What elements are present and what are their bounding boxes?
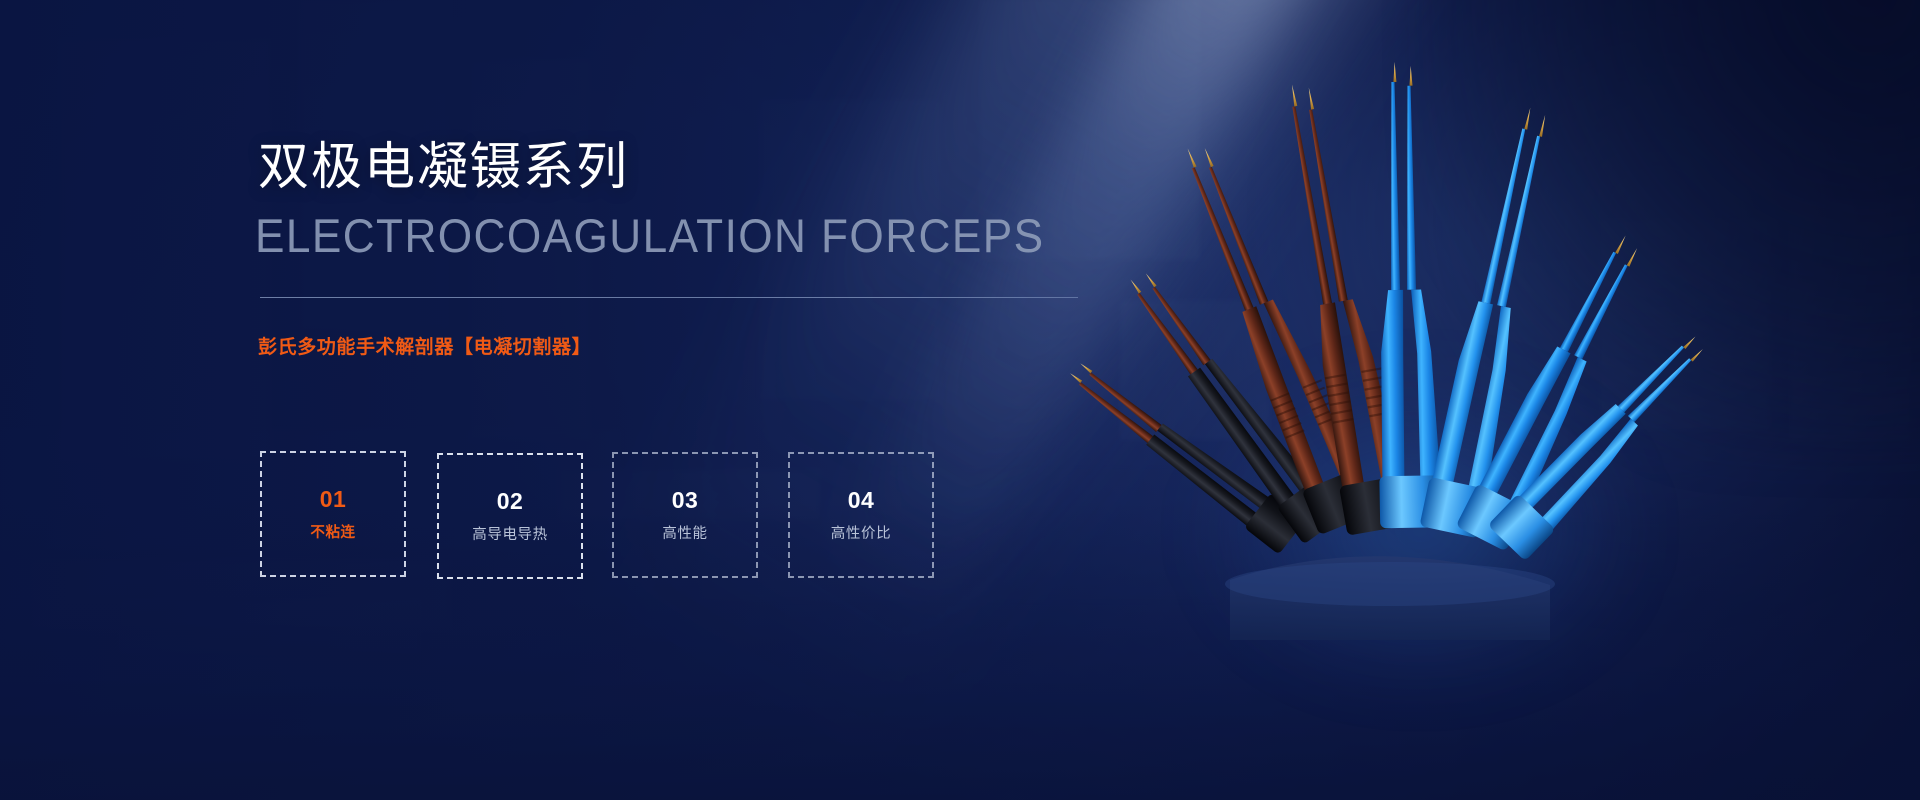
feature-label: 高性价比 <box>831 527 891 542</box>
divider <box>260 297 1078 298</box>
product-glow <box>1210 380 1630 680</box>
page-subtitle-english: ELECTROCOAGULATION FORCEPS <box>255 210 1044 262</box>
page-title: 双极电凝镊系列 <box>258 138 629 195</box>
feature-number: 02 <box>497 490 524 513</box>
product-banner: 双极电凝镊系列 ELECTROCOAGULATION FORCEPS 彭氏多功能… <box>0 0 1920 800</box>
feature-label: 高性能 <box>662 527 707 542</box>
feature-card-03[interactable]: 03 高性能 <box>612 452 758 578</box>
feature-label: 高导电导热 <box>472 528 548 543</box>
feature-card-01[interactable]: 01 不粘连 <box>260 451 406 577</box>
feature-number: 03 <box>672 489 699 512</box>
feature-card-02[interactable]: 02 高导电导热 <box>437 453 583 579</box>
product-subtitle: 彭氏多功能手术解剖器【电凝切割器】 <box>258 335 591 362</box>
feature-number: 04 <box>848 489 875 512</box>
feature-number: 01 <box>320 488 347 511</box>
banner-text-column: 双极电凝镊系列 ELECTROCOAGULATION FORCEPS 彭氏多功能… <box>258 0 1158 800</box>
feature-label: 不粘连 <box>310 526 355 541</box>
feature-card-04[interactable]: 04 高性价比 <box>788 452 934 578</box>
feature-list: 01 不粘连 02 高导电导热 03 高性能 04 高性价比 <box>260 451 1200 591</box>
